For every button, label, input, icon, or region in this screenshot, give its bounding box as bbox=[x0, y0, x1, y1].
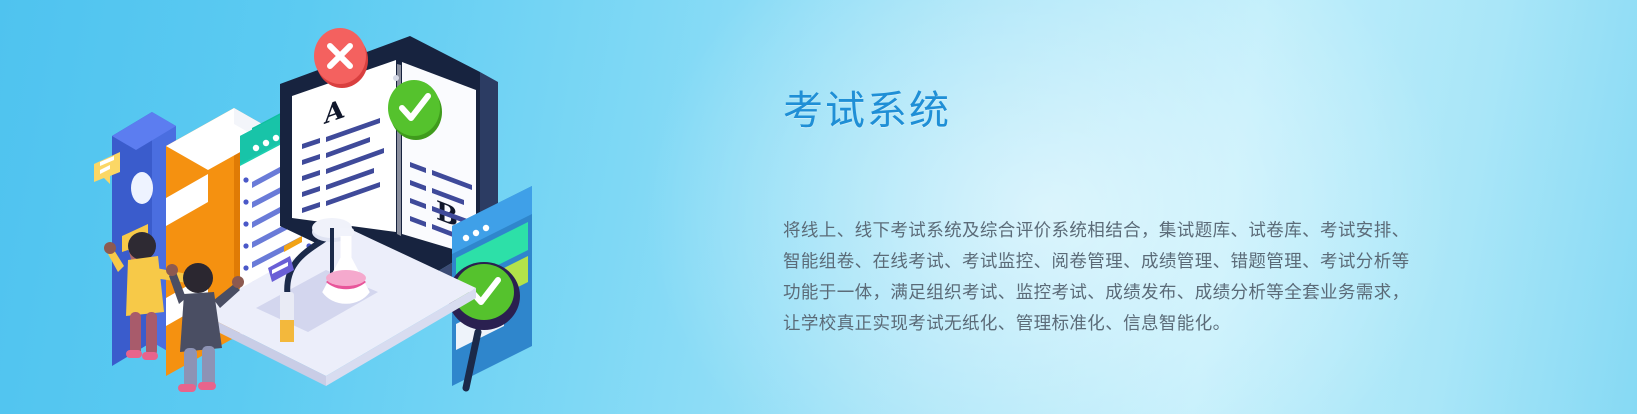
description-line-1: 将线上、线下考试系统及综合评价系统相结合，集试题库、试卷库、考试安排、 bbox=[783, 216, 1483, 247]
banner-description: 将线上、线下考试系统及综合评价系统相结合，集试题库、试卷库、考试安排、 智能组卷… bbox=[783, 216, 1483, 340]
exam-system-banner: A B bbox=[0, 0, 1637, 414]
exam-system-isometric-illustration: A B bbox=[80, 20, 640, 400]
description-line-2: 智能组卷、在线考试、考试监控、阅卷管理、成绩管理、错题管理、考试分析等 bbox=[783, 247, 1483, 278]
banner-copy: 考试系统 将线上、线下考试系统及综合评价系统相结合，集试题库、试卷库、考试安排、… bbox=[783, 84, 1503, 340]
page-title: 考试系统 bbox=[783, 84, 1503, 138]
description-line-3: 功能于一体，满足组织考试、监控考试、成绩发布、成绩分析等全套业务需求， bbox=[783, 278, 1483, 309]
description-line-4: 让学校真正实现考试无纸化、管理标准化、信息智能化。 bbox=[783, 309, 1483, 340]
